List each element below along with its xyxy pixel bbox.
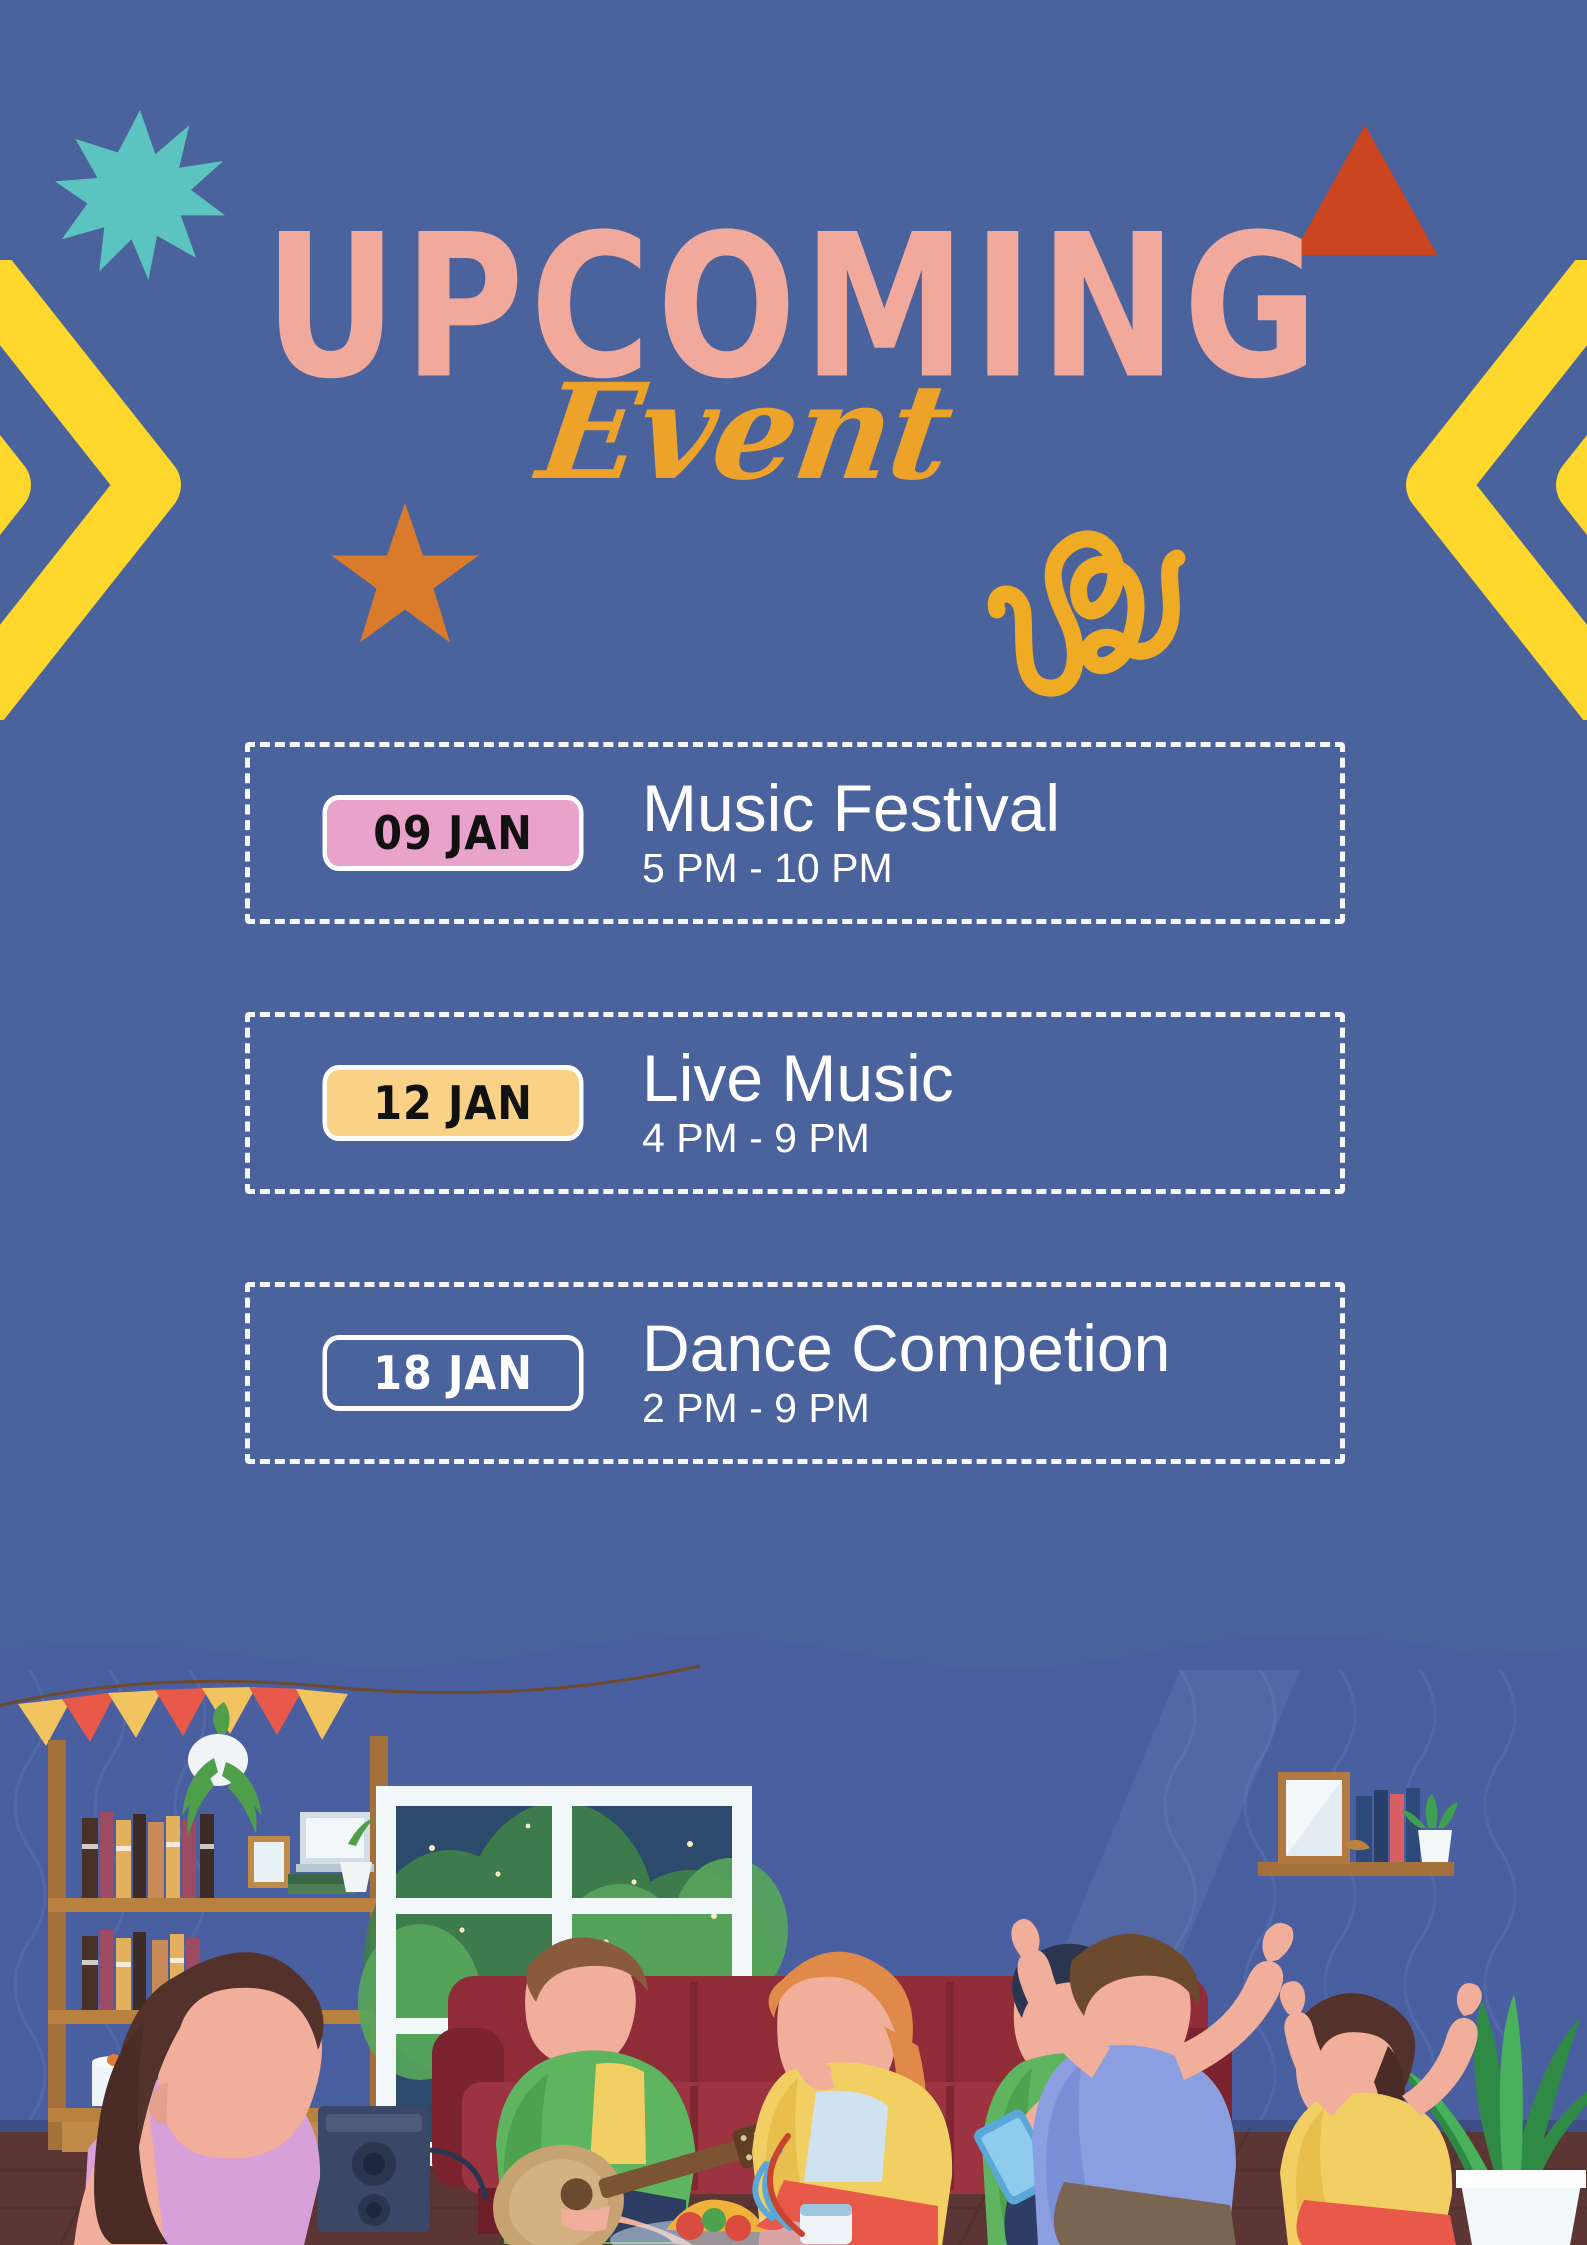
event-title: Dance Competion bbox=[642, 1315, 1170, 1382]
five-point-star-icon bbox=[330, 500, 480, 650]
event-time: 2 PM - 9 PM bbox=[642, 1386, 1170, 1431]
event-text-block: Dance Competion 2 PM - 9 PM bbox=[642, 1315, 1170, 1431]
event-text-block: Live Music 4 PM - 9 PM bbox=[642, 1045, 954, 1161]
event-title: Live Music bbox=[642, 1045, 954, 1112]
event-date-badge: 18 JAN bbox=[323, 1335, 584, 1411]
page-title: UPCOMING bbox=[263, 215, 1323, 401]
event-text-block: Music Festival 5 PM - 10 PM bbox=[642, 775, 1060, 891]
party-illustration bbox=[0, 1630, 1587, 2245]
curly-doodle-decoration bbox=[975, 500, 1205, 710]
event-card[interactable]: 12 JAN Live Music 4 PM - 9 PM bbox=[245, 1012, 1345, 1194]
event-title: Music Festival bbox=[642, 775, 1060, 842]
event-list: 09 JAN Music Festival 5 PM - 10 PM 12 JA… bbox=[245, 742, 1345, 1464]
event-card[interactable]: 09 JAN Music Festival 5 PM - 10 PM bbox=[245, 742, 1345, 924]
event-card[interactable]: 18 JAN Dance Competion 2 PM - 9 PM bbox=[245, 1282, 1345, 1464]
event-date-badge: 12 JAN bbox=[323, 1065, 584, 1141]
event-time: 5 PM - 10 PM bbox=[642, 846, 1060, 891]
event-time: 4 PM - 9 PM bbox=[642, 1116, 954, 1161]
poster-headline-block: UPCOMING bbox=[0, 215, 1587, 373]
poster-canvas: UPCOMING Event 09 JAN Music Festival 5 P… bbox=[0, 0, 1587, 2245]
event-date-badge: 09 JAN bbox=[323, 795, 584, 871]
